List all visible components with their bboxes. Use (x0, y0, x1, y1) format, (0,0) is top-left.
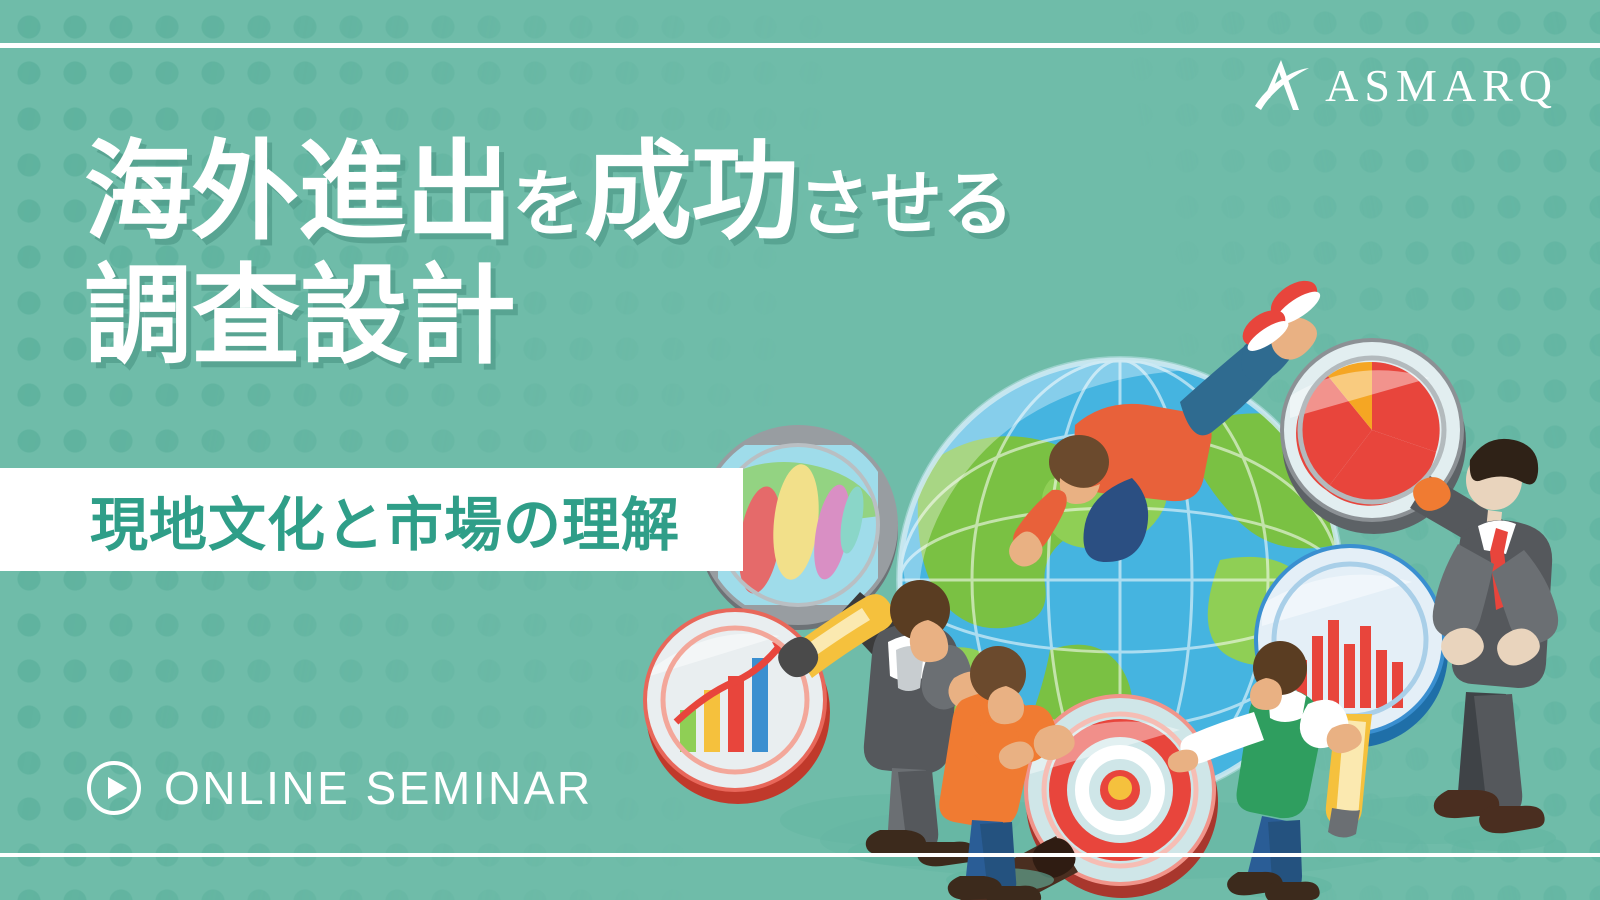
online-seminar-label-group: ONLINE SEMINAR (86, 760, 593, 816)
headline-part-2: を (512, 165, 584, 245)
asmarq-a-swoosh-icon (1253, 56, 1311, 116)
headline-part-3: 成功 (584, 131, 798, 252)
logo-wordmark: ASMARQ (1325, 63, 1558, 109)
subtitle-text: 現地文化と市場の理解 (90, 478, 680, 562)
asmarq-logo: ASMARQ (1253, 56, 1558, 116)
headline: 海外進出を成功させる 調査設計 (84, 138, 1014, 370)
top-rule (0, 43, 1600, 48)
magnifier-red-growth-chart (643, 594, 894, 804)
headline-part-4: させる (798, 165, 1014, 245)
online-seminar-text: ONLINE SEMINAR (164, 761, 593, 815)
headline-part-1: 海外進出 (84, 131, 512, 252)
headline-line-2: 調査設計 (84, 262, 1014, 370)
play-circle-icon (86, 760, 142, 816)
bottom-rule (0, 853, 1600, 857)
headline-line-1: 海外進出を成功させる (84, 138, 1014, 246)
subtitle-band: 現地文化と市場の理解 (0, 468, 743, 571)
seminar-banner: ASMARQ 海外進出を成功させる 調査設計 現地文化と市場の理解 ONLINE… (0, 0, 1600, 900)
